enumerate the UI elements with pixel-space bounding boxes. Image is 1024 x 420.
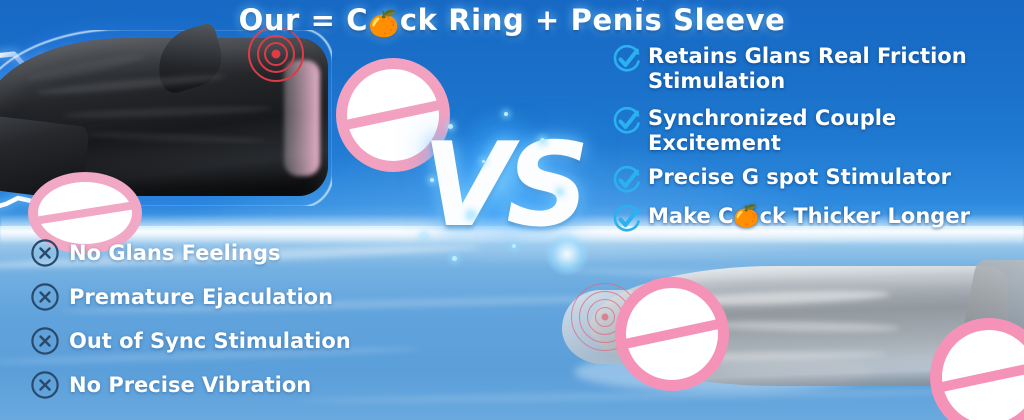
list-item-label: Retains Glans Real Friction Stimulation xyxy=(648,44,1024,94)
spark-particle xyxy=(504,112,508,116)
list-item-label: Premature Ejaculation xyxy=(69,285,333,309)
list-item: Retains Glans Real Friction Stimulation xyxy=(612,44,1024,94)
check-circle-icon xyxy=(612,205,641,234)
check-circle-icon xyxy=(612,107,641,136)
check-circle-icon xyxy=(612,166,641,195)
spark-particle xyxy=(482,160,485,163)
list-item: No Precise Vibration xyxy=(30,370,450,400)
pros-list: Retains Glans Real Friction Stimulation … xyxy=(612,44,1024,243)
prohibition-censor-icon xyxy=(615,277,729,391)
list-item: Out of Sync Stimulation xyxy=(30,326,450,356)
title-segment: Our = C xyxy=(239,3,369,37)
arrow-dotted-i: i xyxy=(634,3,645,37)
spark-particle xyxy=(512,244,516,248)
orange-fruit-emoji: 🍊 xyxy=(368,9,400,38)
spark-particle xyxy=(452,256,457,261)
spark-particle xyxy=(448,124,453,129)
spark-particle xyxy=(430,178,434,182)
x-circle-icon xyxy=(30,238,60,268)
list-item-label: Out of Sync Stimulation xyxy=(69,329,351,353)
spark-particle xyxy=(540,138,545,143)
list-item: Premature Ejaculation xyxy=(30,282,450,312)
list-item: No Glans Feelings xyxy=(30,238,450,268)
list-item: Make C🍊ck Thicker Longer xyxy=(612,204,1024,234)
x-circle-icon xyxy=(30,370,60,400)
list-item-label: Synchronized Couple Excitement xyxy=(648,106,1024,156)
list-item-label: Precise G spot Stimulator xyxy=(648,165,951,190)
spark-particle xyxy=(468,212,474,218)
banner-title: Our = C🍊ck Ring + Penis Sleeve xyxy=(0,3,1024,39)
list-item: Precise G spot Stimulator xyxy=(612,165,1024,195)
title-segment: i xyxy=(634,3,645,37)
list-item-label: No Glans Feelings xyxy=(69,241,281,265)
list-item-label: Make C🍊ck Thicker Longer xyxy=(648,204,970,229)
check-circle-icon xyxy=(612,45,641,74)
title-segment: s Sleeve xyxy=(645,3,786,37)
list-item: Synchronized Couple Excitement xyxy=(612,106,1024,156)
spark-particle xyxy=(558,190,562,194)
x-circle-icon xyxy=(30,326,60,356)
comparison-banner: VS Our = C🍊ck Ring + Penis Sleeve Retain… xyxy=(0,0,1024,420)
cons-list: No Glans Feelings Premature Ejaculation … xyxy=(30,238,450,414)
list-item-label: No Precise Vibration xyxy=(69,373,311,397)
x-circle-icon xyxy=(30,282,60,312)
title-segment: ck Ring + Pen xyxy=(400,3,634,37)
